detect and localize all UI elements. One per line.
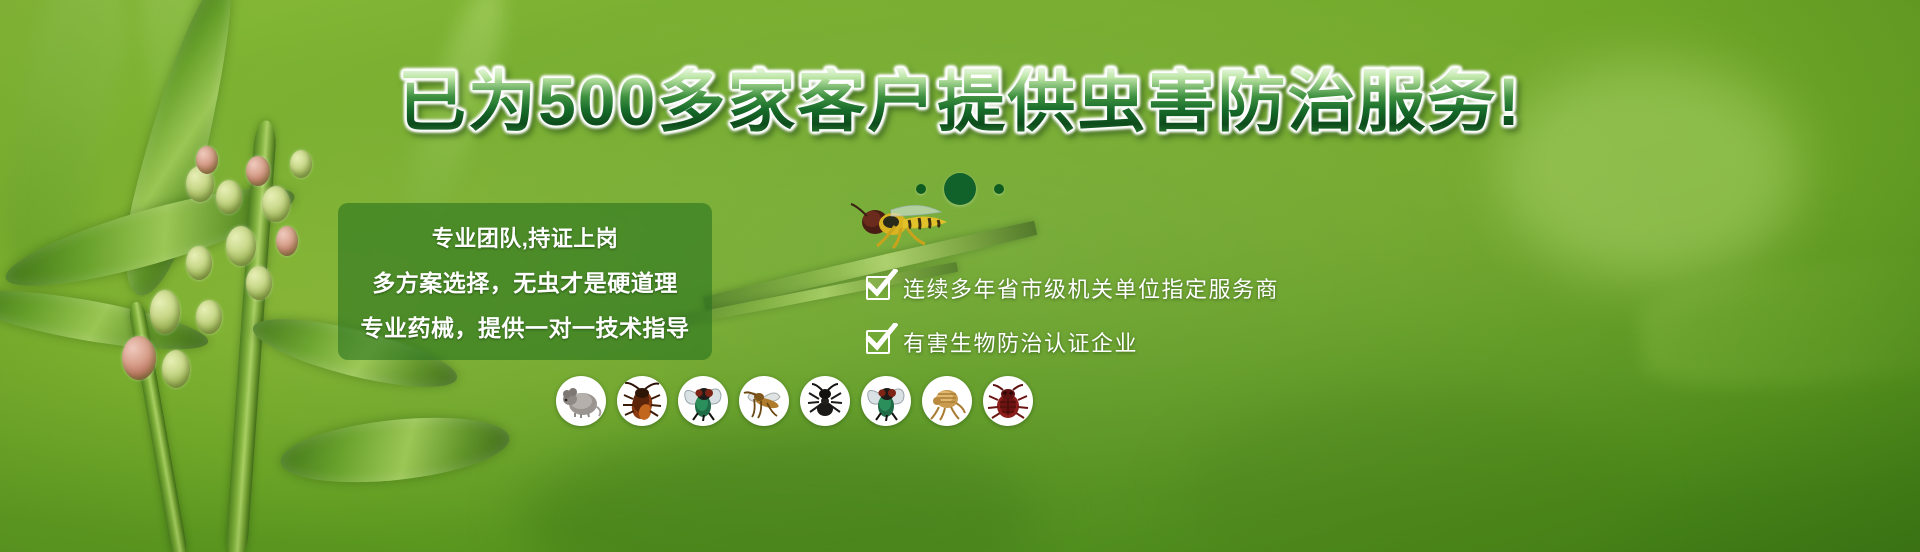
selling-points-panel: 专业团队,持证上岗 多方案选择，无虫才是硬道理 专业药械，提供一对一技术指导 — [338, 203, 712, 360]
checkbox-checked-icon — [866, 330, 890, 354]
divider-dot-right — [994, 184, 1004, 194]
pest-types-row — [556, 376, 1033, 426]
promo-banner: 已为500多家客户提供虫害防治服务! 专业团队,持证上岗 多方案选择，无虫才是硬… — [0, 0, 1920, 552]
selling-point-line-1: 专业团队,持证上岗 — [432, 221, 619, 253]
selling-point-line-3: 专业药械，提供一对一技术指导 — [361, 309, 690, 343]
page-title: 已为500多家客户提供虫害防治服务! — [398, 68, 1522, 136]
blowfly-icon[interactable] — [861, 376, 911, 426]
divider-dot-left — [916, 184, 926, 194]
certification-label: 有害生物防治认证企业 — [903, 326, 1138, 358]
mouse-icon[interactable] — [556, 376, 606, 426]
flea-icon[interactable] — [922, 376, 972, 426]
list-item: 连续多年省市级机关单位指定服务商 — [866, 272, 1279, 304]
bedbug-icon[interactable] — [983, 376, 1033, 426]
certification-label: 连续多年省市级机关单位指定服务商 — [903, 272, 1279, 304]
ant-icon[interactable] — [800, 376, 850, 426]
fly-icon[interactable] — [678, 376, 728, 426]
checkbox-checked-icon — [866, 276, 890, 300]
hoverfly-photo — [845, 196, 965, 256]
certifications-list: 连续多年省市级机关单位指定服务商 有害生物防治认证企业 — [866, 272, 1279, 358]
headline-container: 已为500多家客户提供虫害防治服务! — [0, 68, 1920, 136]
list-item: 有害生物防治认证企业 — [866, 326, 1279, 358]
mosquito-icon[interactable] — [739, 376, 789, 426]
selling-point-line-2: 多方案选择，无虫才是硬道理 — [372, 264, 678, 298]
cockroach-icon[interactable] — [617, 376, 667, 426]
